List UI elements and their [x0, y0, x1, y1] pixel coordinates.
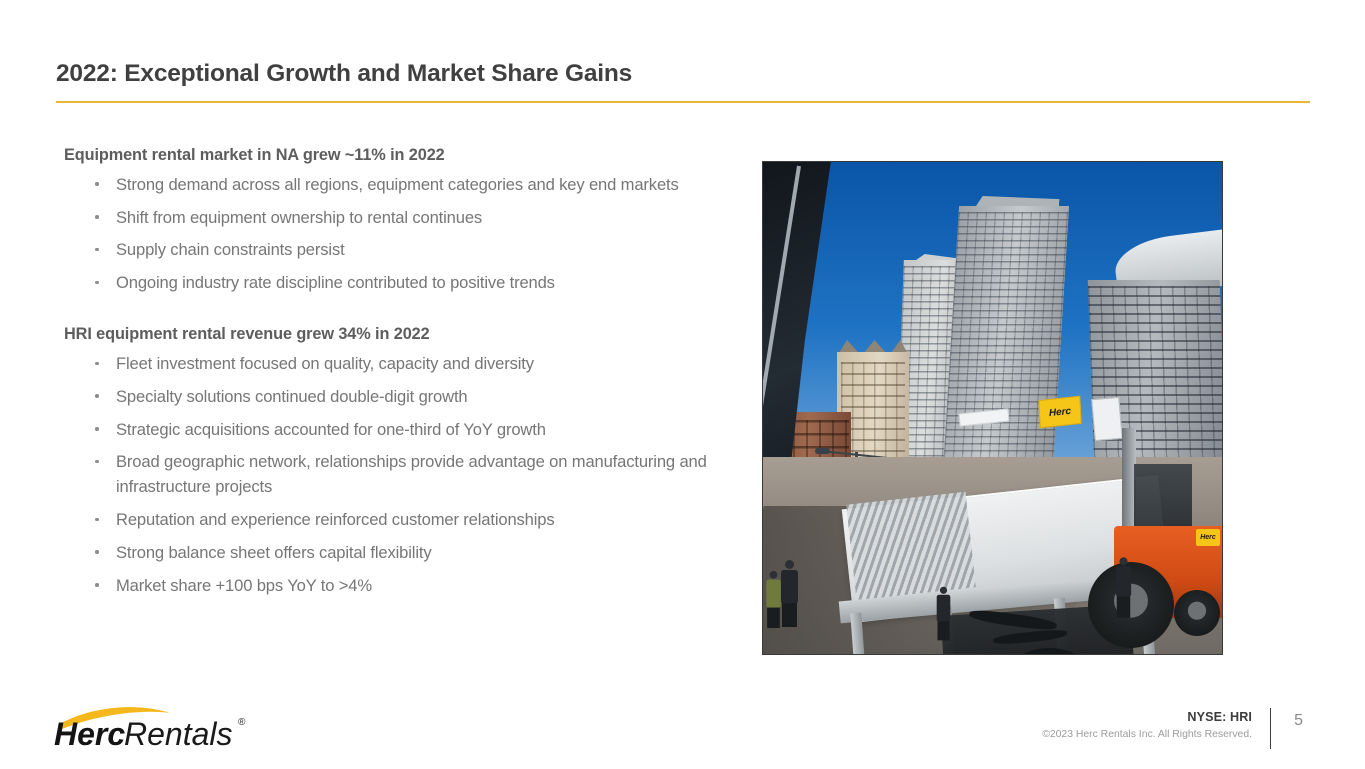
ticker-label: NYSE: HRI — [1042, 710, 1252, 726]
list-item: Strong balance sheet offers capital flex… — [64, 540, 736, 565]
logo-word-rentals: Rentals — [124, 716, 233, 749]
page-title: 2022: Exceptional Growth and Market Shar… — [56, 60, 632, 88]
logo-trademark-icon: ® — [238, 717, 246, 728]
chiller-unit-louvers — [846, 492, 976, 600]
person-head — [770, 571, 778, 579]
list-item: Strong demand across all regions, equipm… — [64, 172, 736, 197]
photo-scene: Herc Herc — [763, 162, 1222, 654]
content-column: Equipment rental market in NA grew ~11% … — [64, 145, 736, 598]
list-item: Fleet investment focused on quality, cap… — [64, 351, 736, 376]
street-lamp-head — [815, 448, 830, 454]
herc-badge-on-forklift: Herc — [1196, 529, 1220, 546]
slide-root: 2022: Exceptional Growth and Market Shar… — [0, 0, 1365, 769]
person-torso — [766, 580, 780, 608]
bullet-list: Strong demand across all regions, equipm… — [64, 172, 736, 295]
section-heading: Equipment rental market in NA grew ~11% … — [64, 145, 736, 166]
list-item: Ongoing industry rate discipline contrib… — [64, 270, 736, 295]
list-item: Shift from equipment ownership to rental… — [64, 205, 736, 230]
footer-info: NYSE: HRI ©2023 Herc Rentals Inc. All Ri… — [1042, 710, 1252, 741]
list-item: Broad geographic network, relationships … — [64, 449, 736, 499]
person — [937, 587, 951, 641]
page-number-divider — [1270, 708, 1271, 749]
section-market: Equipment rental market in NA grew ~11% … — [64, 145, 736, 295]
section-hri-revenue: HRI equipment rental revenue grew 34% in… — [64, 324, 736, 598]
person-legs — [782, 603, 797, 627]
person-head — [1119, 557, 1127, 565]
herc-logo-sign-on-unit: Herc — [1038, 396, 1081, 428]
person-legs — [767, 608, 780, 628]
person-torso — [781, 570, 798, 603]
person-legs — [938, 621, 950, 640]
list-item: Strategic acquisitions accounted for one… — [64, 417, 736, 442]
title-underline-rule — [56, 101, 1310, 103]
person — [766, 571, 780, 628]
list-item: Specialty solutions continued double-dig… — [64, 384, 736, 409]
slide-photo: Herc Herc — [762, 161, 1223, 655]
herc-rentals-logo: Herc Rentals ® — [52, 703, 262, 749]
list-item: Supply chain constraints persist — [64, 237, 736, 262]
person-head — [940, 587, 947, 594]
person-legs — [1117, 596, 1131, 618]
bullet-list: Fleet investment focused on quality, cap… — [64, 351, 736, 598]
logo-word-herc: Herc — [54, 716, 125, 749]
person-torso — [937, 595, 951, 621]
section-heading: HRI equipment rental revenue grew 34% in… — [64, 324, 736, 345]
forklift-cab — [1134, 464, 1192, 534]
copyright-text: ©2023 Herc Rentals Inc. All Rights Reser… — [1042, 728, 1252, 741]
person — [781, 560, 798, 627]
list-item: Reputation and experience reinforced cus… — [64, 507, 736, 532]
page-number: 5 — [1294, 712, 1303, 730]
chiller-unit-control-panel — [1091, 397, 1123, 441]
person-head — [785, 560, 794, 569]
list-item: Market share +100 bps YoY to >4% — [64, 573, 736, 598]
person-torso — [1116, 566, 1131, 596]
forklift-wheel — [1174, 590, 1220, 636]
person — [1116, 557, 1131, 617]
frame-leg — [850, 613, 867, 654]
